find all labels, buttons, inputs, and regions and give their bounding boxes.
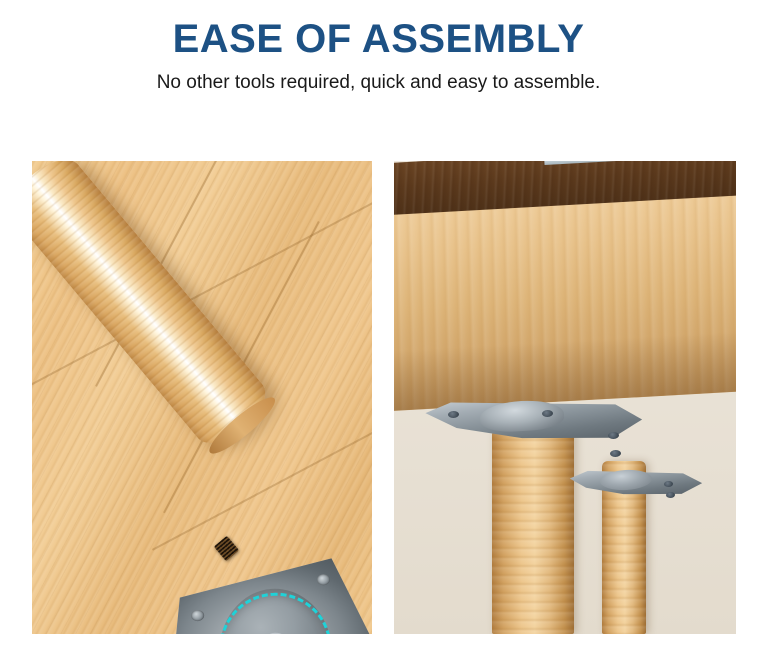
photo-leg-and-mounting-plate <box>32 161 372 634</box>
wooden-table-leg-front <box>492 429 574 634</box>
image-gallery <box>0 161 757 634</box>
photo-legs-mounted-under-table <box>394 161 736 634</box>
header: EASE OF ASSEMBLY No other tools required… <box>0 0 757 95</box>
hexagonal-mounting-plate <box>166 552 372 634</box>
page-title: EASE OF ASSEMBLY <box>0 18 757 60</box>
page-subtitle: No other tools required, quick and easy … <box>0 72 757 95</box>
